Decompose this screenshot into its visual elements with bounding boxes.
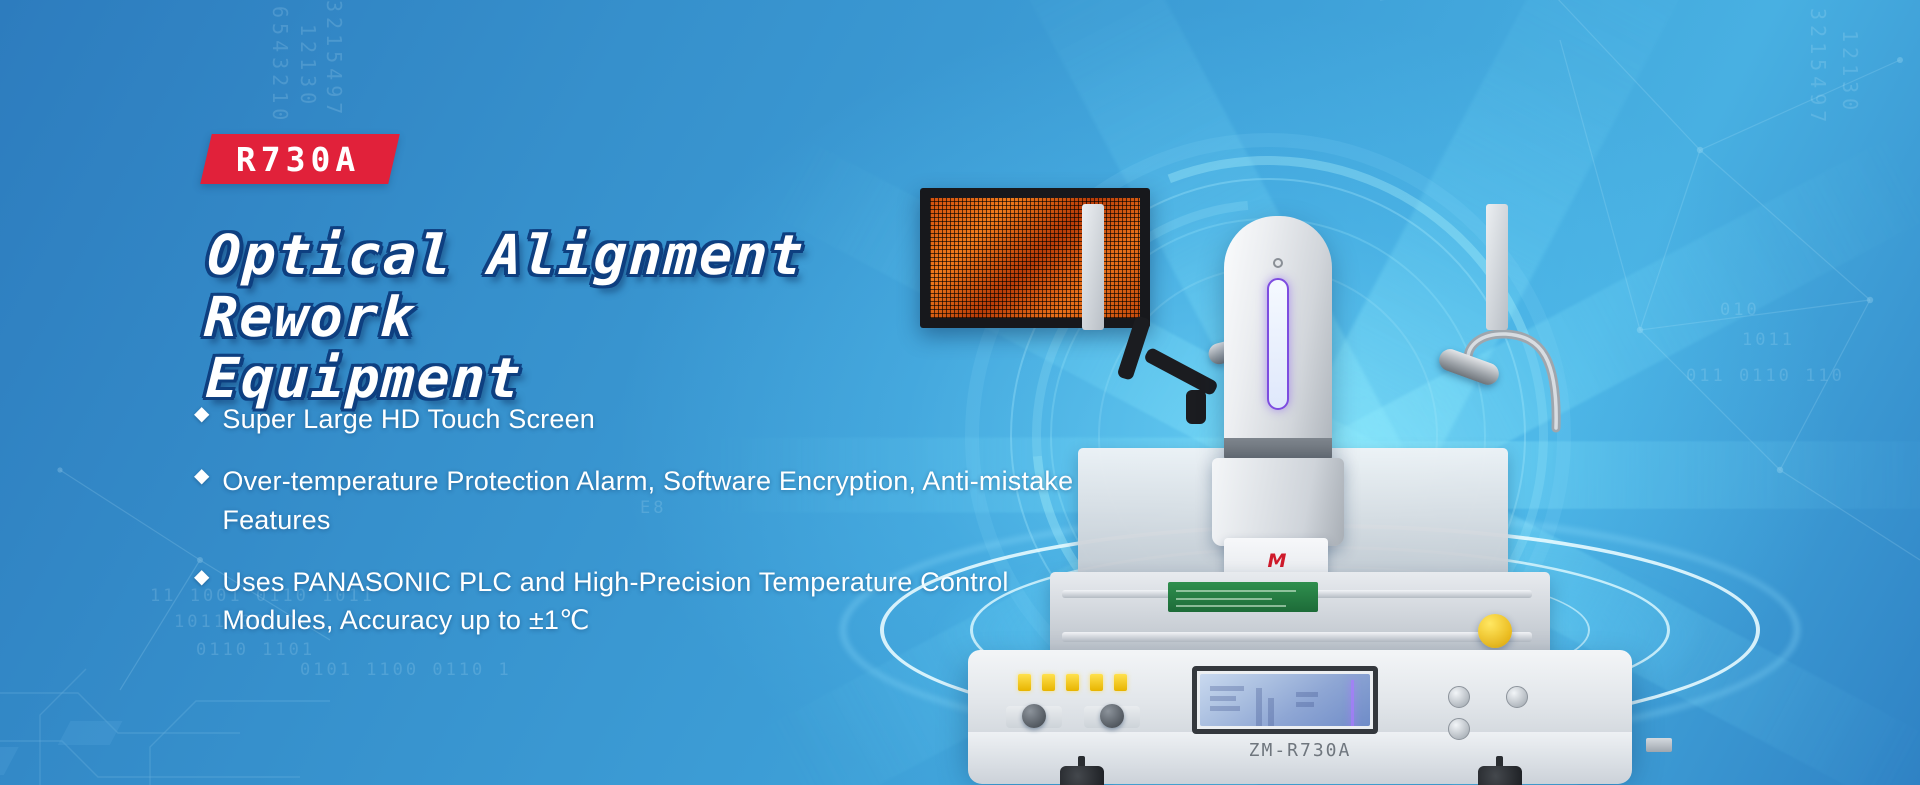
gantry-leg — [1486, 204, 1508, 330]
arm-segment — [1186, 390, 1206, 424]
model-badge: R730A — [200, 134, 400, 184]
binary-text: 12130 — [1838, 30, 1862, 115]
optics-tower — [1224, 216, 1332, 464]
led-heater-panel — [920, 188, 1150, 328]
tower-light-slot — [1267, 278, 1289, 410]
status-indicators — [1018, 674, 1127, 691]
lcd-bar — [1210, 696, 1236, 701]
pcb-trace — [1176, 598, 1272, 600]
indicator-lamp — [1066, 674, 1079, 691]
nozzle-head — [1212, 458, 1344, 546]
touchscreen-display[interactable] — [1192, 666, 1378, 734]
indicator-lamp — [1090, 674, 1103, 691]
lcd-bar — [1296, 692, 1318, 697]
lcd-screen — [1200, 674, 1370, 726]
control-knob[interactable] — [1022, 704, 1046, 728]
adjust-knob[interactable] — [1506, 686, 1528, 708]
lcd-bar — [1296, 702, 1314, 707]
usb-port — [1646, 738, 1672, 752]
indicator-lamp — [1018, 674, 1031, 691]
gantry-leg — [1082, 204, 1104, 330]
brand-mark-icon: M — [1268, 552, 1285, 571]
adjust-knob[interactable] — [1448, 686, 1470, 708]
lcd-bar — [1268, 698, 1274, 726]
product-banner: 6543210 12130 3215497 3215497 12130 010 … — [0, 0, 1920, 785]
indicator-lamp — [1042, 674, 1055, 691]
diamond-bullet-icon: ◆ — [194, 563, 209, 591]
lcd-cursor — [1351, 680, 1354, 726]
indicator-lamp — [1114, 674, 1127, 691]
monitor-arm — [1120, 316, 1240, 434]
model-name-label: ZM-R730A — [968, 740, 1632, 761]
binary-text: 010 — [1720, 300, 1760, 320]
adjust-knob[interactable] — [1448, 718, 1470, 740]
pcb-board — [1168, 582, 1318, 612]
lcd-bar — [1256, 688, 1262, 726]
product-image: M Seamark ZM — [930, 120, 1720, 785]
arm-segment — [1117, 315, 1152, 381]
machine-foot — [1478, 766, 1522, 785]
feature-text: Super Large HD Touch Screen — [222, 400, 595, 438]
lcd-bar — [1210, 686, 1244, 691]
page-title: Optical Alignment Rework Equipment — [206, 225, 1036, 410]
headline-line-1: Optical Alignment Rework — [203, 225, 1039, 348]
binary-text: 3215497 — [1806, 8, 1830, 127]
diamond-bullet-icon: ◆ — [194, 400, 209, 428]
machine-foot — [1060, 766, 1104, 785]
control-knob[interactable] — [1100, 704, 1124, 728]
diamond-bullet-icon: ◆ — [194, 462, 209, 490]
pcb-trace — [1176, 590, 1296, 592]
yellow-knob — [1478, 614, 1512, 648]
binary-text: 1011 — [1742, 330, 1795, 350]
tower-indicator-icon — [1273, 258, 1283, 268]
pcb-trace — [1176, 605, 1286, 607]
lcd-bar — [1210, 706, 1240, 711]
stage-rail — [1062, 632, 1532, 642]
led-grid — [930, 198, 1140, 318]
model-badge-label: R730A — [236, 143, 360, 176]
